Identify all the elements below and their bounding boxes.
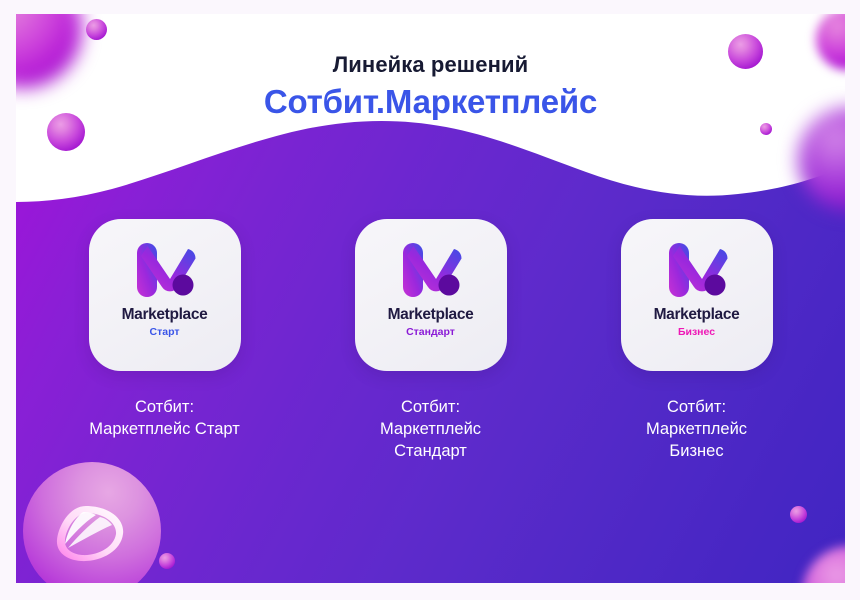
marketplace-logo-icon <box>399 240 463 298</box>
slide-title: Сотбит.Маркетплейс <box>16 83 845 121</box>
product-card[interactable]: Marketplace Стандарт <box>355 219 507 371</box>
screenshot-canvas: Линейка решений Сотбит.Маркетплейс <box>0 0 860 600</box>
product-tier: Старт <box>150 326 180 338</box>
product-tier: Бизнес <box>678 326 715 338</box>
product-caption: Сотбит: Маркетплейс Бизнес <box>621 397 773 462</box>
decor-sphere-bottom-left-small <box>159 553 175 569</box>
product-item[interactable]: Marketplace Старт Сотбит: Маркетплейс Ст… <box>89 219 241 462</box>
product-wordmark: Marketplace <box>388 306 474 324</box>
product-caption: Сотбит: Маркетплейс Старт <box>89 397 241 441</box>
product-list: Marketplace Старт Сотбит: Маркетплейс Ст… <box>16 219 845 462</box>
product-item[interactable]: Marketplace Стандарт Сотбит: Маркетплейс… <box>355 219 507 462</box>
sotbit-leaf-logo-icon <box>53 503 129 565</box>
presentation-slide: Линейка решений Сотбит.Маркетплейс <box>16 14 845 583</box>
product-item[interactable]: Marketplace Бизнес Сотбит: Маркетплейс Б… <box>621 219 773 462</box>
product-wordmark: Marketplace <box>654 306 740 324</box>
slide-kicker: Линейка решений <box>16 52 845 77</box>
product-caption: Сотбит: Маркетплейс Стандарт <box>355 397 507 462</box>
product-wordmark: Marketplace <box>122 306 208 324</box>
product-tier: Стандарт <box>406 326 455 338</box>
decor-sphere-bottom-right-large <box>802 546 845 583</box>
decor-sphere-tiny-right <box>760 123 772 135</box>
decor-sphere-bottom-right-small <box>790 506 807 523</box>
decor-sphere-small-top <box>86 19 107 40</box>
marketplace-logo-icon <box>665 240 729 298</box>
marketplace-logo-icon <box>133 240 197 298</box>
slide-heading: Линейка решений Сотбит.Маркетплейс <box>16 52 845 121</box>
decor-sphere-edge-right <box>798 107 845 211</box>
product-card[interactable]: Marketplace Старт <box>89 219 241 371</box>
wave-decoration <box>16 14 845 244</box>
product-card[interactable]: Marketplace Бизнес <box>621 219 773 371</box>
